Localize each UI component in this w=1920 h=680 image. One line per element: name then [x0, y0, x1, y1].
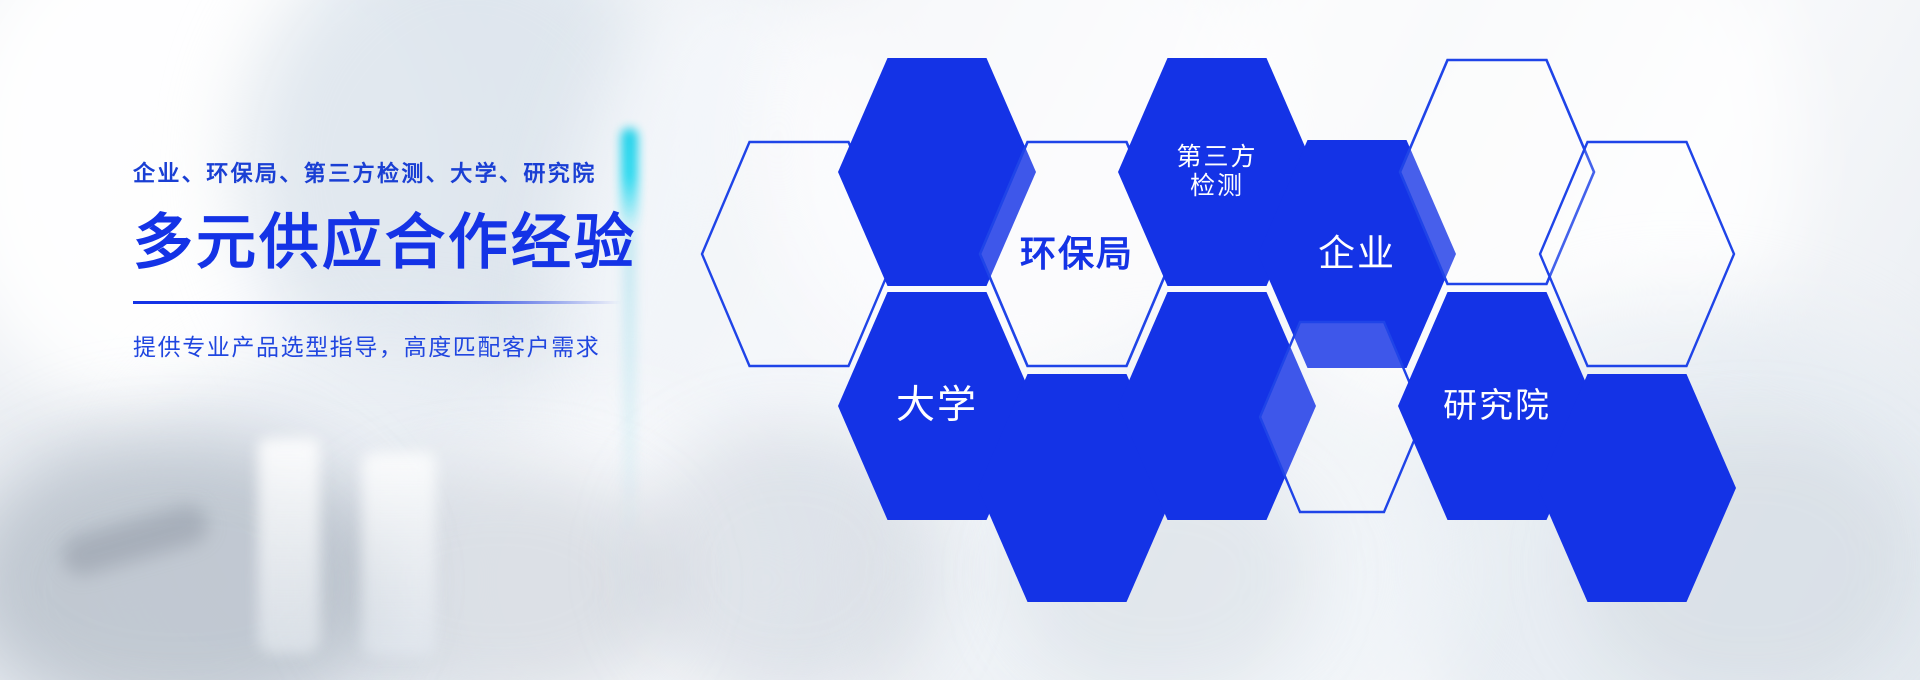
hex-label-daxue: 大学: [896, 383, 978, 429]
hex-label-huanbaoju: 环保局: [1020, 233, 1134, 275]
hex-label-disanfang: 第三方 检测: [1176, 143, 1257, 202]
headline-block: 企业、环保局、第三方检测、大学、研究院 多元供应合作经验 提供专业产品选型指导，…: [133, 160, 653, 362]
hex-plain-far[interactable]: [1538, 374, 1736, 602]
promo-banner: 企业、环保局、第三方检测、大学、研究院 多元供应合作经验 提供专业产品选型指导，…: [0, 0, 1920, 680]
hex-label-qiye: 企业: [1318, 232, 1396, 276]
divider-rule: [133, 301, 621, 304]
hex-plain-right[interactable]: [1538, 140, 1736, 368]
page-title: 多元供应合作经验: [133, 211, 653, 276]
eyebrow-text: 企业、环保局、第三方检测、大学、研究院: [133, 160, 653, 189]
subtitle-text: 提供专业产品选型指导，高度匹配客户需求: [133, 328, 653, 362]
hex-label-yanjiuyuan: 研究院: [1443, 386, 1551, 426]
